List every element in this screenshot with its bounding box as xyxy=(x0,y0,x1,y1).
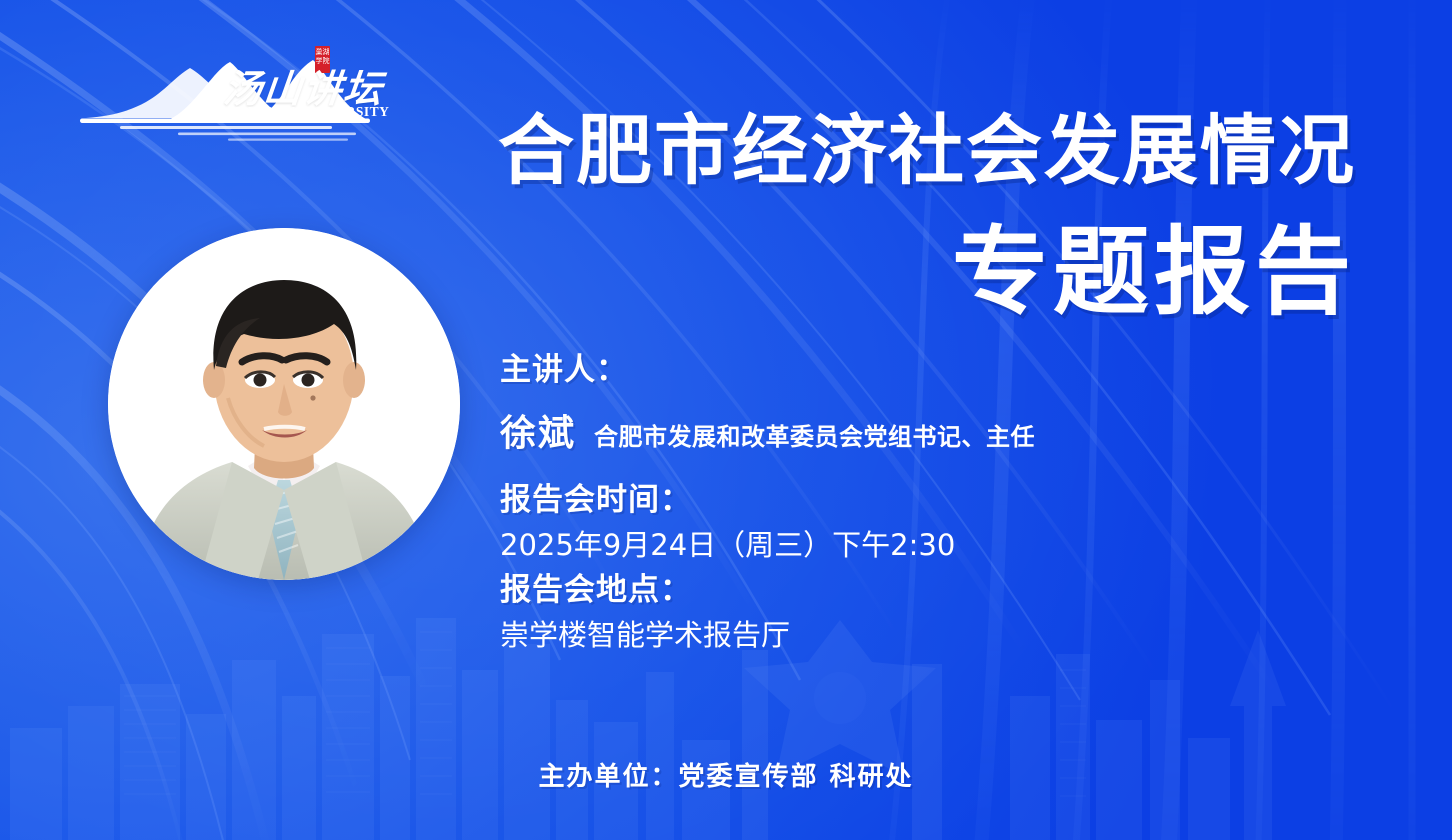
poster-root: 巢湖学院 汤山讲坛 CHAOHU UNIVERSITY 合肥市经济社会发展情况 … xyxy=(0,0,1452,840)
spacer xyxy=(500,456,1240,478)
logo-name-en: CHAOHU UNIVERSITY xyxy=(232,104,389,120)
portrait-illustration xyxy=(108,228,460,580)
chaohu-university-logo: 巢湖学院 汤山讲坛 CHAOHU UNIVERSITY xyxy=(72,52,412,144)
speaker-title: 合肥市发展和改革委员会党组书记、主任 xyxy=(594,417,1035,452)
speaker-label: 主讲人： xyxy=(500,348,1240,392)
speaker-name: 徐斌 xyxy=(500,404,576,456)
speaker-row: 徐斌 合肥市发展和改革委员会党组书记、主任 xyxy=(500,404,1240,456)
organizer-text: 主办单位：党委宣传部 科研处 xyxy=(538,756,913,793)
venue-value: 崇学楼智能学术报告厅 xyxy=(500,612,1240,658)
event-details: 主讲人： 徐斌 合肥市发展和改革委员会党组书记、主任 报告会时间： 2025年9… xyxy=(500,348,1240,658)
title-line-1: 合肥市经济社会发展情况 xyxy=(498,108,1356,194)
time-value: 2025年9月24日（周三）下午2:30 xyxy=(500,522,1240,568)
poster-title: 合肥市经济社会发展情况 专题报告 xyxy=(498,108,1356,328)
footer: 主办单位：党委宣传部 科研处 xyxy=(0,756,1452,793)
venue-label: 报告会地点： xyxy=(500,568,1240,612)
time-label: 报告会时间： xyxy=(500,478,1240,522)
speaker-portrait xyxy=(108,228,460,580)
title-line-2: 专题报告 xyxy=(498,216,1356,328)
